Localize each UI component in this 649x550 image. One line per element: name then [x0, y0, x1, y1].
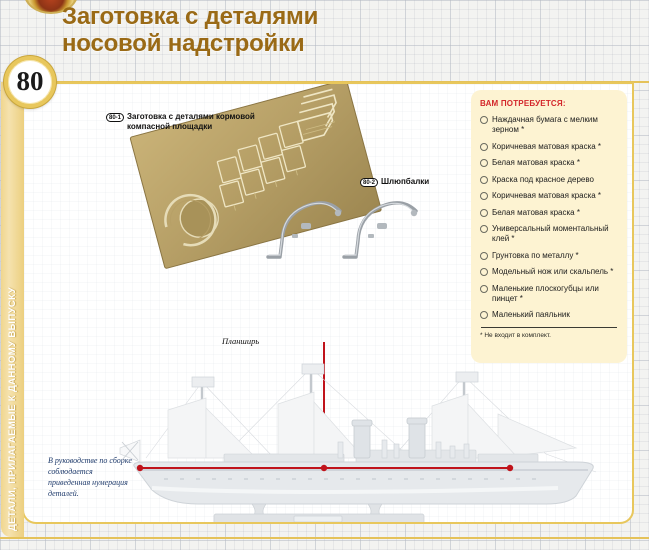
material-item[interactable]: Универсальный моментальный клей * — [480, 224, 618, 244]
material-label: Грунтовка по металлу * — [492, 251, 579, 261]
checkbox-circle-icon[interactable] — [480, 209, 488, 217]
materials-panel: ВАМ ПОТРЕБУЕТСЯ: Наждачная бумага с мелк… — [471, 90, 627, 363]
material-item[interactable]: Наждачная бумага с мелким зерном * — [480, 115, 618, 135]
material-item[interactable]: Белая матовая краска * — [480, 208, 618, 218]
content-card: 80-1 Заготовка с деталями кормовой компа… — [22, 82, 634, 524]
ship-model-svg — [106, 362, 606, 524]
callout-part-80-1: 80-1 Заготовка с деталями кормовой компа… — [106, 112, 256, 132]
side-tab-label: ДЕТАЛИ, ПРИЛАГАЕМЫЕ К ДАННОМУ ВЫПУСКУ — [1, 82, 24, 537]
callout-part-80-2: 80-2 Шлюпбалки — [360, 177, 470, 187]
material-label: Белая матовая краска * — [492, 208, 580, 218]
materials-panel-title: ВАМ ПОТРЕБУЕТСЯ: — [480, 99, 618, 108]
material-label: Коричневая матовая краска * — [492, 142, 601, 152]
material-item[interactable]: Краска под красное дерево — [480, 175, 618, 185]
material-label: Наждачная бумага с мелким зерном * — [492, 115, 618, 135]
checkbox-circle-icon[interactable] — [480, 285, 488, 293]
page-title-line1: Заготовка с деталями — [62, 3, 318, 30]
material-label: Маленькие плоскогубцы или пинцет * — [492, 284, 618, 304]
checkbox-circle-icon[interactable] — [480, 225, 488, 233]
davits-svg — [252, 179, 452, 269]
callout-label-text: Заготовка с деталями кормовой компасной … — [127, 112, 256, 132]
checkbox-circle-icon[interactable] — [480, 252, 488, 260]
checkbox-circle-icon[interactable] — [480, 143, 488, 151]
part-pin-badge: 80-2 — [360, 178, 378, 187]
material-item[interactable]: Грунтовка по металлу * — [480, 251, 618, 261]
checkbox-circle-icon[interactable] — [480, 116, 488, 124]
checkbox-circle-icon[interactable] — [480, 176, 488, 184]
material-label: Маленький паяльник — [492, 310, 570, 320]
checkbox-circle-icon[interactable] — [480, 159, 488, 167]
page-title: Заготовка с деталями носовой надстройки — [62, 4, 482, 58]
material-item[interactable]: Коричневая матовая краска * — [480, 191, 618, 201]
issue-number-badge: 80 — [4, 56, 56, 108]
material-item[interactable]: Маленькие плоскогубцы или пинцет * — [480, 284, 618, 304]
planshir-annotation-label: Планширь — [222, 336, 259, 346]
material-label: Белая матовая краска * — [492, 158, 580, 168]
material-item[interactable]: Модельный нож или скальпель * — [480, 267, 618, 277]
ship-model-image — [106, 362, 606, 524]
checkbox-circle-icon[interactable] — [480, 311, 488, 319]
material-label: Модельный нож или скальпель * — [492, 267, 613, 277]
checkbox-circle-icon[interactable] — [480, 192, 488, 200]
material-label: Коричневая матовая краска * — [492, 191, 601, 201]
davits-image — [252, 179, 452, 269]
material-item[interactable]: Коричневая матовая краска * — [480, 142, 618, 152]
material-label: Краска под красное дерево — [492, 175, 594, 185]
material-label: Универсальный моментальный клей * — [492, 224, 618, 244]
materials-footnote: * Не входит в комплект. — [480, 332, 618, 339]
part-pin-badge: 80-1 — [106, 113, 124, 122]
issue-number-text: 80 — [17, 68, 44, 97]
page-title-line2: носовой надстройки — [62, 31, 482, 58]
material-item[interactable]: Белая матовая краска * — [480, 158, 618, 168]
materials-divider — [481, 327, 617, 328]
side-tab: ДЕТАЛИ, ПРИЛАГАЕМЫЕ К ДАННОМУ ВЫПУСКУ — [1, 82, 24, 537]
checkbox-circle-icon[interactable] — [480, 268, 488, 276]
material-item[interactable]: Маленький паяльник — [480, 310, 618, 320]
footer-divider — [0, 537, 649, 539]
callout-label-text: Шлюпбалки — [381, 177, 429, 187]
